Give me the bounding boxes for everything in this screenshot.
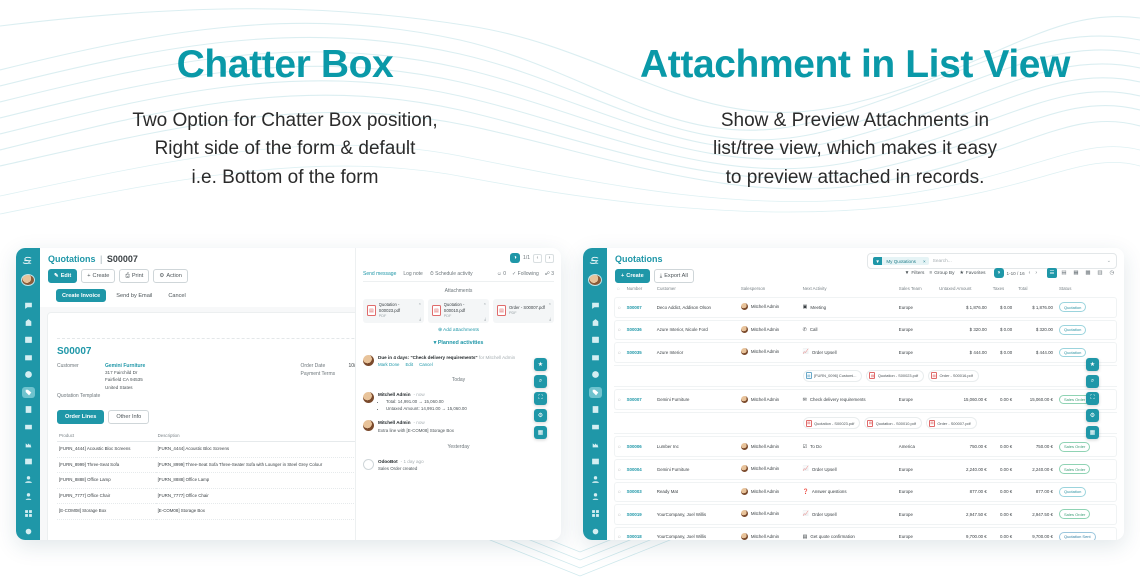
- close-icon[interactable]: ×: [920, 257, 929, 265]
- sidebar-icon-employees[interactable]: [22, 474, 35, 485]
- pager-prev-icon[interactable]: ‹: [533, 254, 542, 263]
- cell-taxes: $ 0.00: [990, 342, 1015, 363]
- avatar: [741, 488, 748, 495]
- send-message-button[interactable]: Send message: [363, 271, 396, 277]
- cell-next-activity: ▣Meeting: [800, 297, 896, 318]
- form-view-mockup: Quotations | S00007 ✎ Edit + Create ⎙ Pr…: [16, 248, 561, 540]
- send-by-email-button[interactable]: Send by Email: [110, 289, 158, 302]
- cell-taxes: 0.00 €: [990, 436, 1015, 457]
- col-salesperson[interactable]: Salesperson: [738, 283, 800, 295]
- cell-number: S00035: [624, 342, 654, 363]
- message-line: Untaxed Amount: 14,991.00 → 15,060.00: [386, 405, 554, 412]
- user-avatar[interactable]: [21, 274, 35, 286]
- sidebar-icon-sales[interactable]: [22, 387, 35, 398]
- pdf-file-icon: ▤: [929, 420, 935, 427]
- hero-subtitle-right: Show & Preview Attachments in list/tree …: [570, 107, 1140, 193]
- sidebar-icon-purchase[interactable]: [589, 421, 602, 432]
- table-row[interactable]: ◌S00018YourCompany, Joel WillisMitchell …: [614, 527, 1117, 540]
- following-button[interactable]: ✓ Following: [512, 271, 539, 277]
- chatter-attachment-list: ▤Quotation - S00023.pdfPDF×⤓▤Quotation -…: [363, 299, 554, 323]
- table-row[interactable]: ◌S00003Ready MatMitchell Admin❓Answer qu…: [614, 482, 1117, 503]
- graph-view-icon[interactable]: ▥: [1095, 268, 1105, 278]
- breadcrumb-record: S00007: [107, 254, 138, 264]
- sidebar-icon-recruitment[interactable]: [22, 491, 35, 502]
- cell-sales-team: Europe: [896, 320, 936, 341]
- cancel-button[interactable]: Cancel: [162, 289, 191, 302]
- cell-salesperson: Mitchell Admin: [738, 342, 800, 363]
- task-icon: ✉: [803, 397, 807, 403]
- order-line-description: [FURN_8888] Office Lamp: [156, 473, 376, 489]
- print-button-label: Print: [132, 273, 144, 279]
- tab-other-info[interactable]: Other Info: [108, 410, 149, 424]
- attachment-chips: ▤Quotation - S00023.pdf▤Quotation - S000…: [800, 412, 1117, 435]
- cell-next-activity: 📈Order Upsell: [800, 504, 896, 525]
- row-checkbox[interactable]: ◌: [614, 504, 624, 525]
- field-template-label: Quotation Template: [57, 393, 117, 399]
- cell-taxes: $ 0.00: [990, 320, 1015, 341]
- sidebar-icon-purchase[interactable]: [22, 421, 35, 432]
- pdf-file-icon: ▤: [806, 420, 812, 427]
- filters-button[interactable]: ▼Filters: [905, 271, 925, 276]
- pager-value: 1-10 / 16: [1007, 271, 1025, 276]
- planned-activities-header[interactable]: ▾ Planned activities: [363, 340, 554, 346]
- cell-sales-team: Europe: [896, 482, 936, 503]
- close-icon[interactable]: ×: [419, 301, 421, 306]
- field-customer-value[interactable]: Gemini Furniture: [105, 363, 145, 369]
- search-input[interactable]: Search...: [933, 259, 952, 264]
- sidebar-icon-settings[interactable]: [22, 526, 35, 537]
- plus-icon: +: [87, 273, 90, 279]
- avatar: [741, 443, 748, 450]
- col-number[interactable]: Number: [624, 283, 654, 295]
- table-row[interactable]: ◌S00019YourCompany, Joel WillisMitchell …: [614, 504, 1117, 525]
- grid-fab-icon[interactable]: ▦: [534, 426, 547, 439]
- pivot-view-icon[interactable]: ▩: [1083, 268, 1093, 278]
- hero-sub-line-1: Two Option for Chatter Box position,: [0, 107, 570, 136]
- cell-customer: Gemini Furniture: [654, 389, 738, 410]
- follower-count[interactable]: ☺ 0: [497, 271, 506, 277]
- cell-total: 2,947.50 €: [1015, 504, 1056, 525]
- quotations-table: ◌ Number Customer Salesperson Next Activ…: [614, 281, 1117, 540]
- cell-sales-team: Europe: [896, 297, 936, 318]
- sidebar-icon-apps[interactable]: [589, 508, 602, 519]
- form-body: Quotations | S00007 ✎ Edit + Create ⎙ Pr…: [40, 248, 561, 540]
- order-line-product: [E-COM08] Storage Box: [57, 504, 156, 520]
- avatar: [741, 348, 748, 355]
- brand-logo-icon[interactable]: [586, 255, 604, 270]
- cell-total: 2,240.00 €: [1015, 459, 1056, 480]
- plus-icon: +: [621, 273, 624, 279]
- message-time: - now: [414, 392, 425, 397]
- row-checkbox[interactable]: ◌: [614, 342, 624, 363]
- message-line: Total: 14,991.00 → 15,060.00: [386, 398, 554, 405]
- upsell-icon: 📈: [803, 511, 809, 517]
- cancel-activity-link[interactable]: Cancel: [419, 362, 433, 367]
- message-time: - 1 day ago: [401, 459, 424, 464]
- cell-next-activity: ☑To Do: [800, 436, 896, 457]
- cell-taxes: $ 0.00: [990, 297, 1015, 318]
- hero-subtitle-left: Two Option for Chatter Box position, Rig…: [0, 107, 570, 193]
- chevron-down-icon[interactable]: ⌄: [1107, 258, 1111, 264]
- activity-view-icon[interactable]: ◷: [1107, 268, 1117, 278]
- create-button-label: Create: [93, 273, 110, 279]
- attachment-name: Quotation - S00023.pdfPDF: [379, 302, 420, 320]
- list-view-icon[interactable]: ☰: [1047, 268, 1057, 278]
- cell-salesperson: Mitchell Admin: [738, 504, 800, 525]
- cell-total: $ 1,876.00: [1015, 297, 1056, 318]
- cell-total: 750.00 €: [1015, 436, 1056, 457]
- attachment-chip[interactable]: ▤Quotation - S00023.pdf: [803, 417, 861, 429]
- print-button[interactable]: ⎙ Print: [119, 269, 149, 283]
- sidebar-icon-discuss[interactable]: [589, 300, 602, 311]
- day-separator-today: Today: [363, 377, 554, 383]
- attachment-chip[interactable]: ▤Order - S00016.pdf: [928, 370, 979, 382]
- sidebar-icon-invoicing[interactable]: [589, 404, 602, 415]
- pager-toggle-icon[interactable]: ◑: [994, 268, 1004, 278]
- pager-next-icon[interactable]: ›: [1034, 270, 1038, 276]
- order-line-description: [FURN_4444] Acoustic Bloc Screens: [156, 441, 376, 457]
- action-button[interactable]: ⚙ Action: [153, 269, 188, 283]
- download-icon[interactable]: ⤓: [484, 316, 486, 321]
- table-row[interactable]: ◌S00007Gemini FurnitureMitchell Admin✉Ch…: [614, 389, 1117, 410]
- status-badge: Quotation: [1059, 348, 1086, 358]
- table-row[interactable]: ◌S00035Azure InteriorMitchell Admin📈Orde…: [614, 342, 1117, 363]
- attachment-chip[interactable]: ▤Order - S00007.pdfPDF×⤓: [493, 299, 554, 323]
- status-badge: Sales Order: [1059, 464, 1090, 474]
- cell-taxes: 0.00 €: [990, 482, 1015, 503]
- status-badge: Sales Order: [1059, 442, 1090, 452]
- calendar-view-icon[interactable]: ▦: [1071, 268, 1081, 278]
- tab-order-lines[interactable]: Order Lines: [57, 410, 104, 424]
- pdf-file-icon: ▤: [867, 420, 873, 427]
- cell-sales-team: Europe: [896, 342, 936, 363]
- cell-next-activity: 📈Order Upsell: [800, 342, 896, 363]
- cell-status: Sales Order: [1056, 504, 1117, 525]
- row-checkbox[interactable]: ◌: [614, 436, 624, 457]
- attachment-chip[interactable]: ▤[FURN_0096] Customi...: [803, 370, 863, 382]
- sidebar-icon-inventory[interactable]: [589, 352, 602, 363]
- pencil-icon: ✎: [54, 273, 59, 279]
- field-customer-label: Customer: [57, 363, 105, 391]
- grid-fab-icon[interactable]: ▦: [1086, 426, 1099, 439]
- hero-column-left: Chatter Box Two Option for Chatter Box p…: [0, 0, 570, 230]
- cell-customer: Azure Interior: [654, 342, 738, 363]
- question-icon: ❓: [803, 489, 809, 495]
- schedule-activity-button[interactable]: ⏱ Schedule activity: [430, 271, 473, 277]
- breadcrumb-separator: |: [100, 254, 102, 264]
- expand-fab-icon[interactable]: ⛶: [1086, 392, 1099, 405]
- col-description[interactable]: Description: [156, 430, 376, 442]
- close-icon[interactable]: ×: [484, 301, 486, 306]
- attachment-chip[interactable]: ▤Quotation - S00023.pdf: [866, 370, 924, 382]
- status-badge: Quotation: [1059, 302, 1086, 312]
- user-avatar[interactable]: [588, 274, 602, 286]
- cell-next-activity: ❓Answer questions: [800, 482, 896, 503]
- pager-prev-icon[interactable]: ‹: [1028, 270, 1032, 276]
- settings-fab-icon[interactable]: ⚙: [534, 409, 547, 422]
- image-file-icon: ▤: [806, 372, 812, 379]
- chatter-messages-today: Mitchell Admin- nowTotal: 14,991.00 → 15…: [363, 388, 554, 438]
- status-badge: Quotation: [1059, 487, 1086, 497]
- address-line-2: Fairfield CA 94535: [105, 376, 145, 383]
- message-line: Extra line with [E-COM08] Storage Box: [378, 427, 554, 434]
- message-body: Extra line with [E-COM08] Storage Box: [378, 427, 554, 434]
- search-facet-my-quotations[interactable]: ▼ My Quotations ×: [873, 257, 929, 265]
- order-line-product: [FURN_8888] Office Lamp: [57, 473, 156, 489]
- activity-assignee: for Mitchell Admin: [479, 355, 515, 360]
- hero-sub-line-3: i.e. Bottom of the form: [0, 164, 570, 193]
- sidebar-icon-employees[interactable]: [589, 474, 602, 485]
- chatter-message: OdooBot- 1 day agoSales Order created: [363, 455, 554, 477]
- cell-total: 877.00 €: [1015, 482, 1056, 503]
- create-invoice-button[interactable]: Create Invoice: [56, 289, 106, 302]
- mark-done-link[interactable]: Mark Done: [378, 362, 399, 367]
- avatar: [741, 533, 748, 540]
- sidebar-icon-settings[interactable]: [589, 526, 602, 537]
- field-customer-address: 317 Fairchild Dr Fairfield CA 94535 Unit…: [105, 369, 145, 391]
- pdf-file-icon: ▤: [869, 372, 875, 379]
- list-body: Quotations + Create ⤓ Export All ▼ My Qu…: [607, 248, 1124, 540]
- cell-sales-team: Europe: [896, 504, 936, 525]
- cell-salesperson: Mitchell Admin: [738, 436, 800, 457]
- col-untaxed-amount[interactable]: Untaxed Amount: [936, 283, 990, 295]
- sidebar-icon-discuss[interactable]: [22, 300, 35, 311]
- col-product[interactable]: Product: [57, 430, 156, 442]
- message-author: Mitchell Admin- now: [378, 392, 554, 397]
- cell-number: S00018: [624, 527, 654, 540]
- cell-salesperson: Mitchell Admin: [738, 482, 800, 503]
- sidebar-icon-sales[interactable]: [589, 387, 602, 398]
- cell-sales-team: Europe: [896, 389, 936, 410]
- chatter-message: Mitchell Admin- nowTotal: 14,991.00 → 15…: [363, 388, 554, 417]
- search-bar[interactable]: ▼ My Quotations × Search... ⌄: [867, 253, 1117, 269]
- activity-due: Due in 4 days:: [378, 355, 409, 360]
- avatar: [741, 303, 748, 310]
- cell-next-activity: 📈Order Upsell: [800, 459, 896, 480]
- cell-untaxed-amount: 15,060.00 €: [936, 389, 990, 410]
- activity-links: Mark Done Edit Cancel: [378, 362, 554, 367]
- field-payment-terms-label: Payment Terms: [301, 371, 349, 377]
- sidebar-icon-crm[interactable]: [22, 369, 35, 380]
- order-line-description: [FURN_7777] Office Chair: [156, 488, 376, 504]
- call-icon: ✆: [803, 327, 807, 333]
- message-body: Total: 14,991.00 → 15,060.00Untaxed Amou…: [378, 398, 554, 412]
- row-checkbox[interactable]: ◌: [614, 389, 624, 410]
- status-badge: Quotation: [1059, 325, 1086, 335]
- day-separator-yesterday: Yesterday: [363, 444, 554, 450]
- list-view-mockup: Quotations + Create ⤓ Export All ▼ My Qu…: [583, 248, 1124, 540]
- cell-customer: Deco Addict, Addison Olson: [654, 297, 738, 318]
- row-checkbox[interactable]: ◌: [614, 527, 624, 540]
- group-by-button[interactable]: ≡Group By: [929, 271, 954, 276]
- cell-taxes: 0.00 €: [990, 389, 1015, 410]
- breadcrumb-root[interactable]: Quotations: [48, 254, 96, 264]
- avatar: [363, 355, 374, 366]
- star-fab-icon[interactable]: ★: [534, 358, 547, 371]
- floating-action-buttons-right: ★ ⌕ ⛶ ⚙ ▦: [1086, 358, 1099, 439]
- avatar: [741, 465, 748, 472]
- cell-untaxed-amount: 877.00 €: [936, 482, 990, 503]
- attachments-header: Attachments: [363, 288, 554, 294]
- gear-icon: ⚙: [159, 273, 164, 279]
- search-facet-label: My Quotations: [882, 257, 920, 265]
- message-body: Sales Order created: [378, 465, 554, 472]
- list-controls: ▼Filters ≡Group By ★Favorites ◑ 1-10 / 1…: [905, 268, 1117, 278]
- cell-customer: YourCompany, Joel Willis: [654, 504, 738, 525]
- followers-count[interactable]: ☍ 3: [545, 271, 554, 277]
- cell-customer: Lumber Inc: [654, 436, 738, 457]
- chatter-actions: Send message Log note ⏱ Schedule activit…: [363, 266, 554, 282]
- settings-fab-icon[interactable]: ⚙: [1086, 409, 1099, 422]
- edit-button[interactable]: ✎ Edit: [48, 269, 77, 283]
- col-customer[interactable]: Customer: [654, 283, 738, 295]
- row-checkbox[interactable]: ◌: [614, 320, 624, 341]
- cell-salesperson: Mitchell Admin: [738, 297, 800, 318]
- cell-salesperson: Mitchell Admin: [738, 320, 800, 341]
- brand-logo-icon[interactable]: [19, 255, 37, 270]
- floating-action-buttons-left: ★ ⌕ ⛶ ⚙ ▦: [534, 358, 547, 439]
- log-note-button[interactable]: Log note: [403, 271, 422, 277]
- cell-untaxed-amount: 9,700.00 €: [936, 527, 990, 540]
- cell-number: S00007: [624, 389, 654, 410]
- col-status[interactable]: Status: [1056, 283, 1117, 295]
- cell-customer: Ready Mat: [654, 482, 738, 503]
- cell-sales-team: Europe: [896, 459, 936, 480]
- avatar: [741, 510, 748, 517]
- attachment-row: ▤[FURN_0096] Customi...▤Quotation - S000…: [614, 365, 1117, 388]
- cell-number: S00036: [624, 320, 654, 341]
- favorites-button[interactable]: ★Favorites: [959, 271, 985, 276]
- col-total[interactable]: Total: [1015, 283, 1056, 295]
- sidebar-icon-website[interactable]: [589, 456, 602, 467]
- search-fab-icon[interactable]: ⌕: [534, 375, 547, 388]
- cell-untaxed-amount: $ 320.00: [936, 320, 990, 341]
- activity-item: Due in 4 days: "Check delivery requireme…: [363, 351, 554, 371]
- close-icon[interactable]: ×: [549, 301, 551, 306]
- cell-customer: Gemini Furniture: [654, 459, 738, 480]
- edit-activity-link[interactable]: Edit: [405, 362, 413, 367]
- table-row[interactable]: ◌S00006Lumber IncMitchell Admin☑To DoAme…: [614, 436, 1117, 457]
- sidebar-icon-invoicing[interactable]: [22, 404, 35, 415]
- attachment-chip[interactable]: ▤Quotation - S00010.pdf: [864, 417, 922, 429]
- cell-status: Sales Order: [1056, 459, 1117, 480]
- create-button[interactable]: + Create: [81, 269, 115, 283]
- attachment-type: PDF: [379, 314, 420, 320]
- row-checkbox[interactable]: ◌: [614, 297, 624, 318]
- cell-status: Quotation Sent: [1056, 527, 1117, 540]
- table-row[interactable]: ◌S00036Azure Interior, Nicole FordMitche…: [614, 320, 1117, 341]
- attachment-chip[interactable]: ▤Quotation - S00023.pdfPDF×⤓: [363, 299, 424, 323]
- hero-sub-line-2: Right side of the form & default: [0, 135, 570, 164]
- search-fab-icon[interactable]: ⌕: [1086, 375, 1099, 388]
- list-table-wrapper: ◌ Number Customer Salesperson Next Activ…: [607, 281, 1124, 540]
- cell-sales-team: America: [896, 436, 936, 457]
- cell-untaxed-amount: 750.00 €: [936, 436, 990, 457]
- print-icon: ⎙: [125, 273, 129, 280]
- attachment-chip[interactable]: ▤Order - S00007.pdf: [926, 417, 977, 429]
- cell-total: 9,700.00 €: [1015, 527, 1056, 540]
- attachment-name: Quotation - S00010.pdfPDF: [444, 302, 485, 320]
- chatter-message: Mitchell Admin- nowExtra line with [E-CO…: [363, 416, 554, 438]
- cell-total: $ 444.00: [1015, 342, 1056, 363]
- download-icon[interactable]: ⤓: [549, 316, 551, 321]
- sidebar-icon-manufacturing[interactable]: [589, 439, 602, 450]
- hero-sub-line-1: Show & Preview Attachments in: [570, 107, 1140, 136]
- attachment-type: PDF: [509, 311, 545, 317]
- kanban-view-icon[interactable]: ▤: [1059, 268, 1069, 278]
- table-row[interactable]: ◌S00004Gemini FurnitureMitchell Admin📈Or…: [614, 459, 1117, 480]
- status-badge: Quotation Sent: [1059, 532, 1096, 540]
- attachment-row: ▤Quotation - S00023.pdf▤Quotation - S000…: [614, 412, 1117, 435]
- cell-status: Sales Order: [1056, 436, 1117, 457]
- sidebar-icon-apps[interactable]: [22, 508, 35, 519]
- sidebar-icon-contacts[interactable]: [22, 317, 35, 328]
- row-checkbox[interactable]: ◌: [614, 459, 624, 480]
- sidebar-icon-inventory[interactable]: [22, 352, 35, 363]
- sidebar-icon-manufacturing[interactable]: [22, 439, 35, 450]
- cell-total: 15,060.00 €: [1015, 389, 1056, 410]
- sidebar-icon-contacts[interactable]: [589, 317, 602, 328]
- field-quotation-template: Quotation Template: [57, 393, 301, 399]
- message-line: Sales Order created: [378, 465, 554, 472]
- row-checkbox[interactable]: ◌: [614, 482, 624, 503]
- star-fab-icon[interactable]: ★: [1086, 358, 1099, 371]
- pdf-file-icon: ▤: [367, 305, 376, 316]
- upsell-icon: 📈: [803, 466, 809, 472]
- cell-number: S00019: [624, 504, 654, 525]
- order-line-product: [FURN_4444] Acoustic Bloc Screens: [57, 441, 156, 457]
- order-line-product: [FURN_8999] Three-Seat Sofa: [57, 457, 156, 473]
- chatter-panel: ◑ 1/1 ‹ › Send message Log note ⏱ Schedu…: [355, 248, 561, 540]
- col-next-activity[interactable]: Next Activity: [800, 283, 896, 295]
- app-sidebar-right: [583, 248, 607, 540]
- sidebar-icon-website[interactable]: [22, 456, 35, 467]
- col-sales-team[interactable]: Sales Team: [896, 283, 936, 295]
- status-badge: Sales Order: [1059, 509, 1090, 519]
- cell-sales-team: Europe: [896, 527, 936, 540]
- select-all-checkbox[interactable]: ◌: [614, 283, 624, 295]
- cell-number: S00004: [624, 459, 654, 480]
- sidebar-icon-crm[interactable]: [589, 369, 602, 380]
- cell-status: Quotation: [1056, 482, 1117, 503]
- message-time: - now: [414, 420, 425, 425]
- filter-icon: ▼: [873, 257, 882, 265]
- cell-number: S00007: [624, 297, 654, 318]
- sidebar-icon-calendar[interactable]: [22, 334, 35, 345]
- cell-salesperson: Mitchell Admin: [738, 459, 800, 480]
- sidebar-icon-calendar[interactable]: [589, 334, 602, 345]
- pdf-file-icon: ▤: [432, 305, 441, 316]
- hero-title-right: Attachment in List View: [570, 44, 1140, 87]
- hero-sub-line-3: to preview attached in records.: [570, 164, 1140, 193]
- table-header-row: ◌ Number Customer Salesperson Next Activ…: [614, 283, 1117, 295]
- col-taxes[interactable]: Taxes: [990, 283, 1015, 295]
- cell-number: S00003: [624, 482, 654, 503]
- cell-taxes: 0.00 €: [990, 504, 1015, 525]
- table-row[interactable]: ◌S00007Deco Addict, Addison OlsonMitchel…: [614, 297, 1117, 318]
- add-attachments-button[interactable]: ⊕ Add attachments: [363, 328, 554, 333]
- chatter-toggle-icon[interactable]: ◑: [510, 253, 520, 263]
- download-icon[interactable]: ⤓: [419, 316, 421, 321]
- pdf-file-icon: ▤: [931, 372, 937, 379]
- attachment-name: Order - S00007.pdfPDF: [509, 305, 545, 317]
- expand-fab-icon[interactable]: ⛶: [534, 392, 547, 405]
- export-all-button-label: Export All: [664, 273, 688, 279]
- sidebar-icon-recruitment[interactable]: [589, 491, 602, 502]
- pager-next-icon[interactable]: ›: [545, 254, 554, 263]
- attachment-chip[interactable]: ▤Quotation - S00010.pdfPDF×⤓: [428, 299, 489, 323]
- address-line-3: United States: [105, 384, 145, 391]
